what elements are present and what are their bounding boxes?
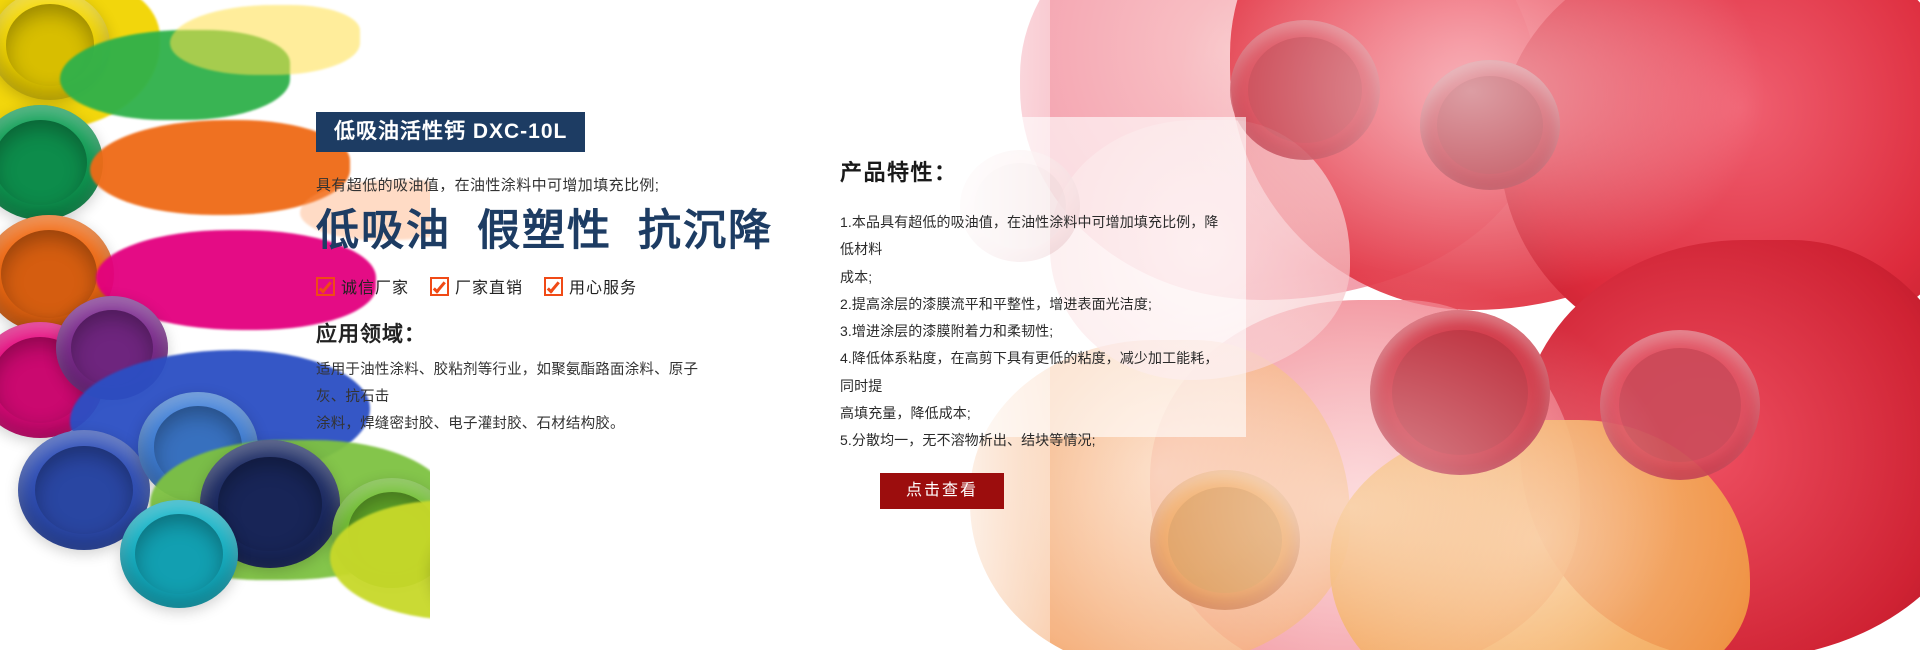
trust-badge-label: 用心服务 — [569, 274, 637, 298]
checkbox-check-icon — [544, 277, 563, 296]
application-section-body: 适用于油性涂料、胶粘剂等行业，如聚氨酯路面涂料、原子灰、抗石击 涂料，焊缝密封胶… — [316, 357, 726, 437]
promo-banner: 低吸油活性钙 DXC-10L 具有超低的吸油值，在油性涂料中可增加填充比例; 低… — [0, 0, 1920, 650]
paint-dish — [1370, 310, 1550, 475]
paint-dish — [1600, 330, 1760, 480]
left-content-column: 低吸油活性钙 DXC-10L 具有超低的吸油值，在油性涂料中可增加填充比例; 低… — [316, 112, 736, 438]
product-subline: 具有超低的吸油值，在油性涂料中可增加填充比例; — [316, 174, 736, 195]
headline-word-1: 低吸油 — [316, 208, 451, 255]
paint-can-cyan — [120, 500, 238, 608]
paint-can-lime — [332, 478, 452, 588]
paint-can-purple — [56, 296, 168, 400]
feature-line: 4.降低体系粘度，在高剪下具有更低的粘度，减少加工能耗，同时提 — [840, 345, 1220, 400]
trust-badge-item: 厂家直销 — [430, 274, 523, 298]
click-to-view-button[interactable]: 点击查看 — [880, 473, 1004, 510]
feature-line: 2.提高涂层的漆膜流平和平整性，增进表面光洁度; — [840, 291, 1220, 318]
trust-badge-item: 诚信厂家 — [316, 274, 409, 298]
paint-smear — [330, 500, 560, 620]
paint-can-yellowgreen — [430, 520, 540, 620]
product-title-badge: 低吸油活性钙 DXC-10L — [316, 112, 585, 152]
splash-blob — [1230, 0, 1750, 310]
paint-can-lightblue — [138, 392, 258, 502]
paint-dish — [1420, 60, 1560, 190]
headline-keywords: 低吸油假塑性抗沉降 — [316, 207, 736, 256]
feature-line: 1.本品具有超低的吸油值，在油性涂料中可增加填充比例，降低材料 — [840, 209, 1220, 264]
paint-can-green — [0, 105, 103, 220]
features-list: 1.本品具有超低的吸油值，在油性涂料中可增加填充比例，降低材料 成本; 2.提高… — [840, 209, 1220, 455]
feature-line: 高填充量，降低成本; — [840, 400, 1220, 427]
paint-smear — [150, 440, 450, 580]
feature-line: 3.增进涂层的漆膜附着力和柔韧性; — [840, 318, 1220, 345]
paint-can-orange — [0, 215, 114, 333]
paint-can-yellow — [0, 0, 110, 100]
splash-blob — [1520, 240, 1920, 650]
trust-badges-row: 诚信厂家 厂家直销 用心服务 — [316, 274, 736, 298]
paint-can-blue — [18, 430, 150, 550]
paint-smear — [170, 5, 360, 75]
paint-smear — [0, 0, 160, 130]
splash-blob — [1330, 420, 1750, 650]
feature-line: 成本; — [840, 264, 1220, 291]
checkbox-check-icon — [316, 277, 335, 296]
headline-word-3: 抗沉降 — [638, 208, 773, 255]
feature-line: 5.分散均一，无不溶物析出、结块等情况; — [840, 427, 1220, 454]
application-section-title: 应用领域： — [316, 318, 736, 348]
paint-can-magenta — [0, 322, 104, 438]
trust-badge-label: 诚信厂家 — [341, 274, 409, 298]
paint-smear — [90, 120, 350, 215]
product-features-panel-inner: 产品特性： 1.本品具有超低的吸油值，在油性涂料中可增加填充比例，降低材料 成本… — [806, 117, 1246, 509]
paint-can-navy — [200, 440, 340, 568]
application-body-line: 适用于油性涂料、胶粘剂等行业，如聚氨酯路面涂料、原子灰、抗石击 — [316, 357, 726, 411]
trust-badge-item: 用心服务 — [544, 274, 637, 298]
product-features-panel: 产品特性： 1.本品具有超低的吸油值，在油性涂料中可增加填充比例，降低材料 成本… — [806, 117, 1246, 437]
headline-word-2: 假塑性 — [477, 208, 612, 255]
trust-badge-label: 厂家直销 — [455, 274, 523, 298]
checkbox-check-icon — [430, 277, 449, 296]
features-panel-title: 产品特性： — [840, 155, 1220, 187]
application-body-line: 涂料，焊缝密封胶、电子灌封胶、石材结构胶。 — [316, 411, 726, 438]
paint-smear — [60, 30, 290, 120]
paint-dish — [1230, 20, 1380, 160]
splash-blob — [1500, 0, 1920, 360]
